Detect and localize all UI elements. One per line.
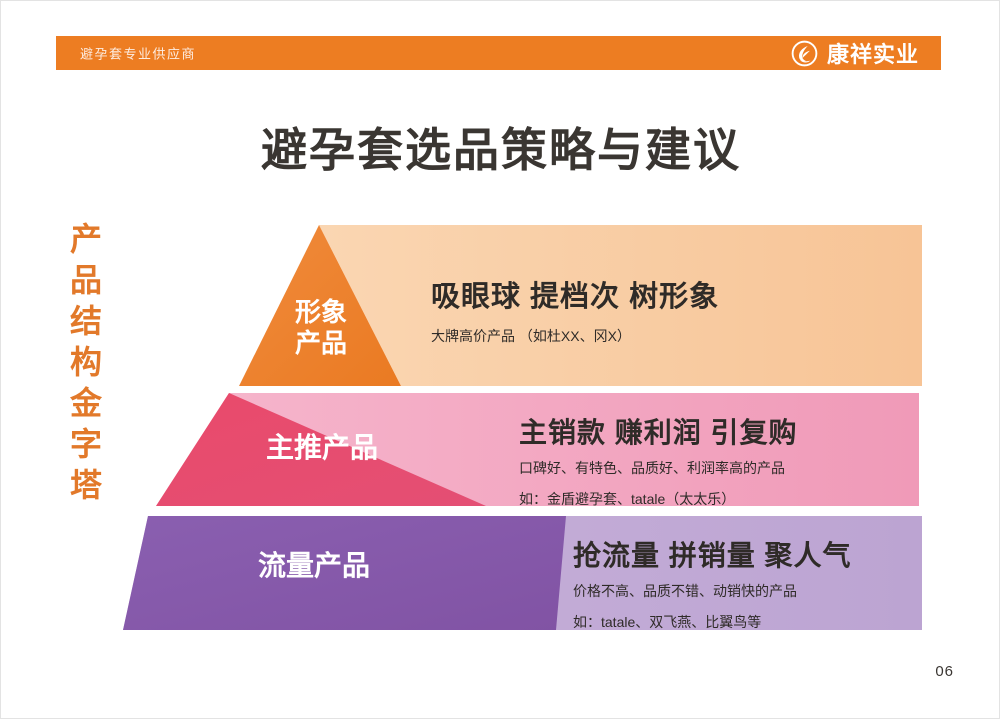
side-label-char: 品 bbox=[63, 260, 109, 301]
brand-block: 康祥实业 bbox=[791, 37, 919, 69]
side-label-char: 产 bbox=[63, 219, 109, 260]
tier-1-content: 吸眼球 提档次 树形象 大牌高价产品 （如杜XX、冈X） bbox=[431, 273, 719, 350]
tier-2-sub-line: 如：金盾避孕套、tatale（太太乐） bbox=[519, 487, 798, 513]
tier-3-sub-line: 如：tatale、双飞燕、比翼鸟等 bbox=[573, 610, 852, 636]
tier-1-label: 形象 产品 bbox=[269, 297, 373, 358]
side-label-product-structure-pyramid: 产 品 结 构 金 字 塔 bbox=[63, 219, 109, 506]
header-tagline: 避孕套专业供应商 bbox=[80, 44, 196, 63]
header-bar: 避孕套专业供应商 康祥实业 bbox=[56, 36, 941, 70]
leaf-swirl-logo-icon bbox=[791, 40, 818, 67]
tier-1-heading: 吸眼球 提档次 树形象 bbox=[431, 273, 719, 315]
tier-2-label: 主推产品 bbox=[229, 431, 415, 464]
tier-2-content: 主销款 赚利润 引复购 口碑好、有特色、品质好、利润率高的产品 如：金盾避孕套、… bbox=[519, 411, 798, 513]
tier-3-label: 流量产品 bbox=[219, 549, 409, 582]
page-title: 避孕套选品策略与建议 bbox=[1, 114, 1000, 180]
tier-1-sub-line: 大牌高价产品 （如杜XX、冈X） bbox=[431, 324, 719, 350]
side-label-char: 结 bbox=[63, 301, 109, 342]
tier-3-heading: 抢流量 拼销量 聚人气 bbox=[573, 534, 852, 574]
brand-name: 康祥实业 bbox=[827, 37, 919, 69]
side-label-char: 塔 bbox=[63, 465, 109, 506]
slide-canvas: 避孕套专业供应商 康祥实业 避孕套选品策略与建议 产 品 结 构 金 字 塔 bbox=[0, 0, 1000, 719]
side-label-char: 字 bbox=[63, 424, 109, 465]
tier-2-sub-line: 口碑好、有特色、品质好、利润率高的产品 bbox=[519, 456, 798, 482]
tier-3-sub-line: 价格不高、品质不错、动销快的产品 bbox=[573, 579, 852, 605]
tier-2-heading: 主销款 赚利润 引复购 bbox=[519, 411, 798, 451]
page-number: 06 bbox=[935, 663, 954, 680]
side-label-char: 构 bbox=[63, 342, 109, 383]
tier-3-content: 抢流量 拼销量 聚人气 价格不高、品质不错、动销快的产品 如：tatale、双飞… bbox=[573, 534, 852, 636]
side-label-char: 金 bbox=[63, 383, 109, 424]
